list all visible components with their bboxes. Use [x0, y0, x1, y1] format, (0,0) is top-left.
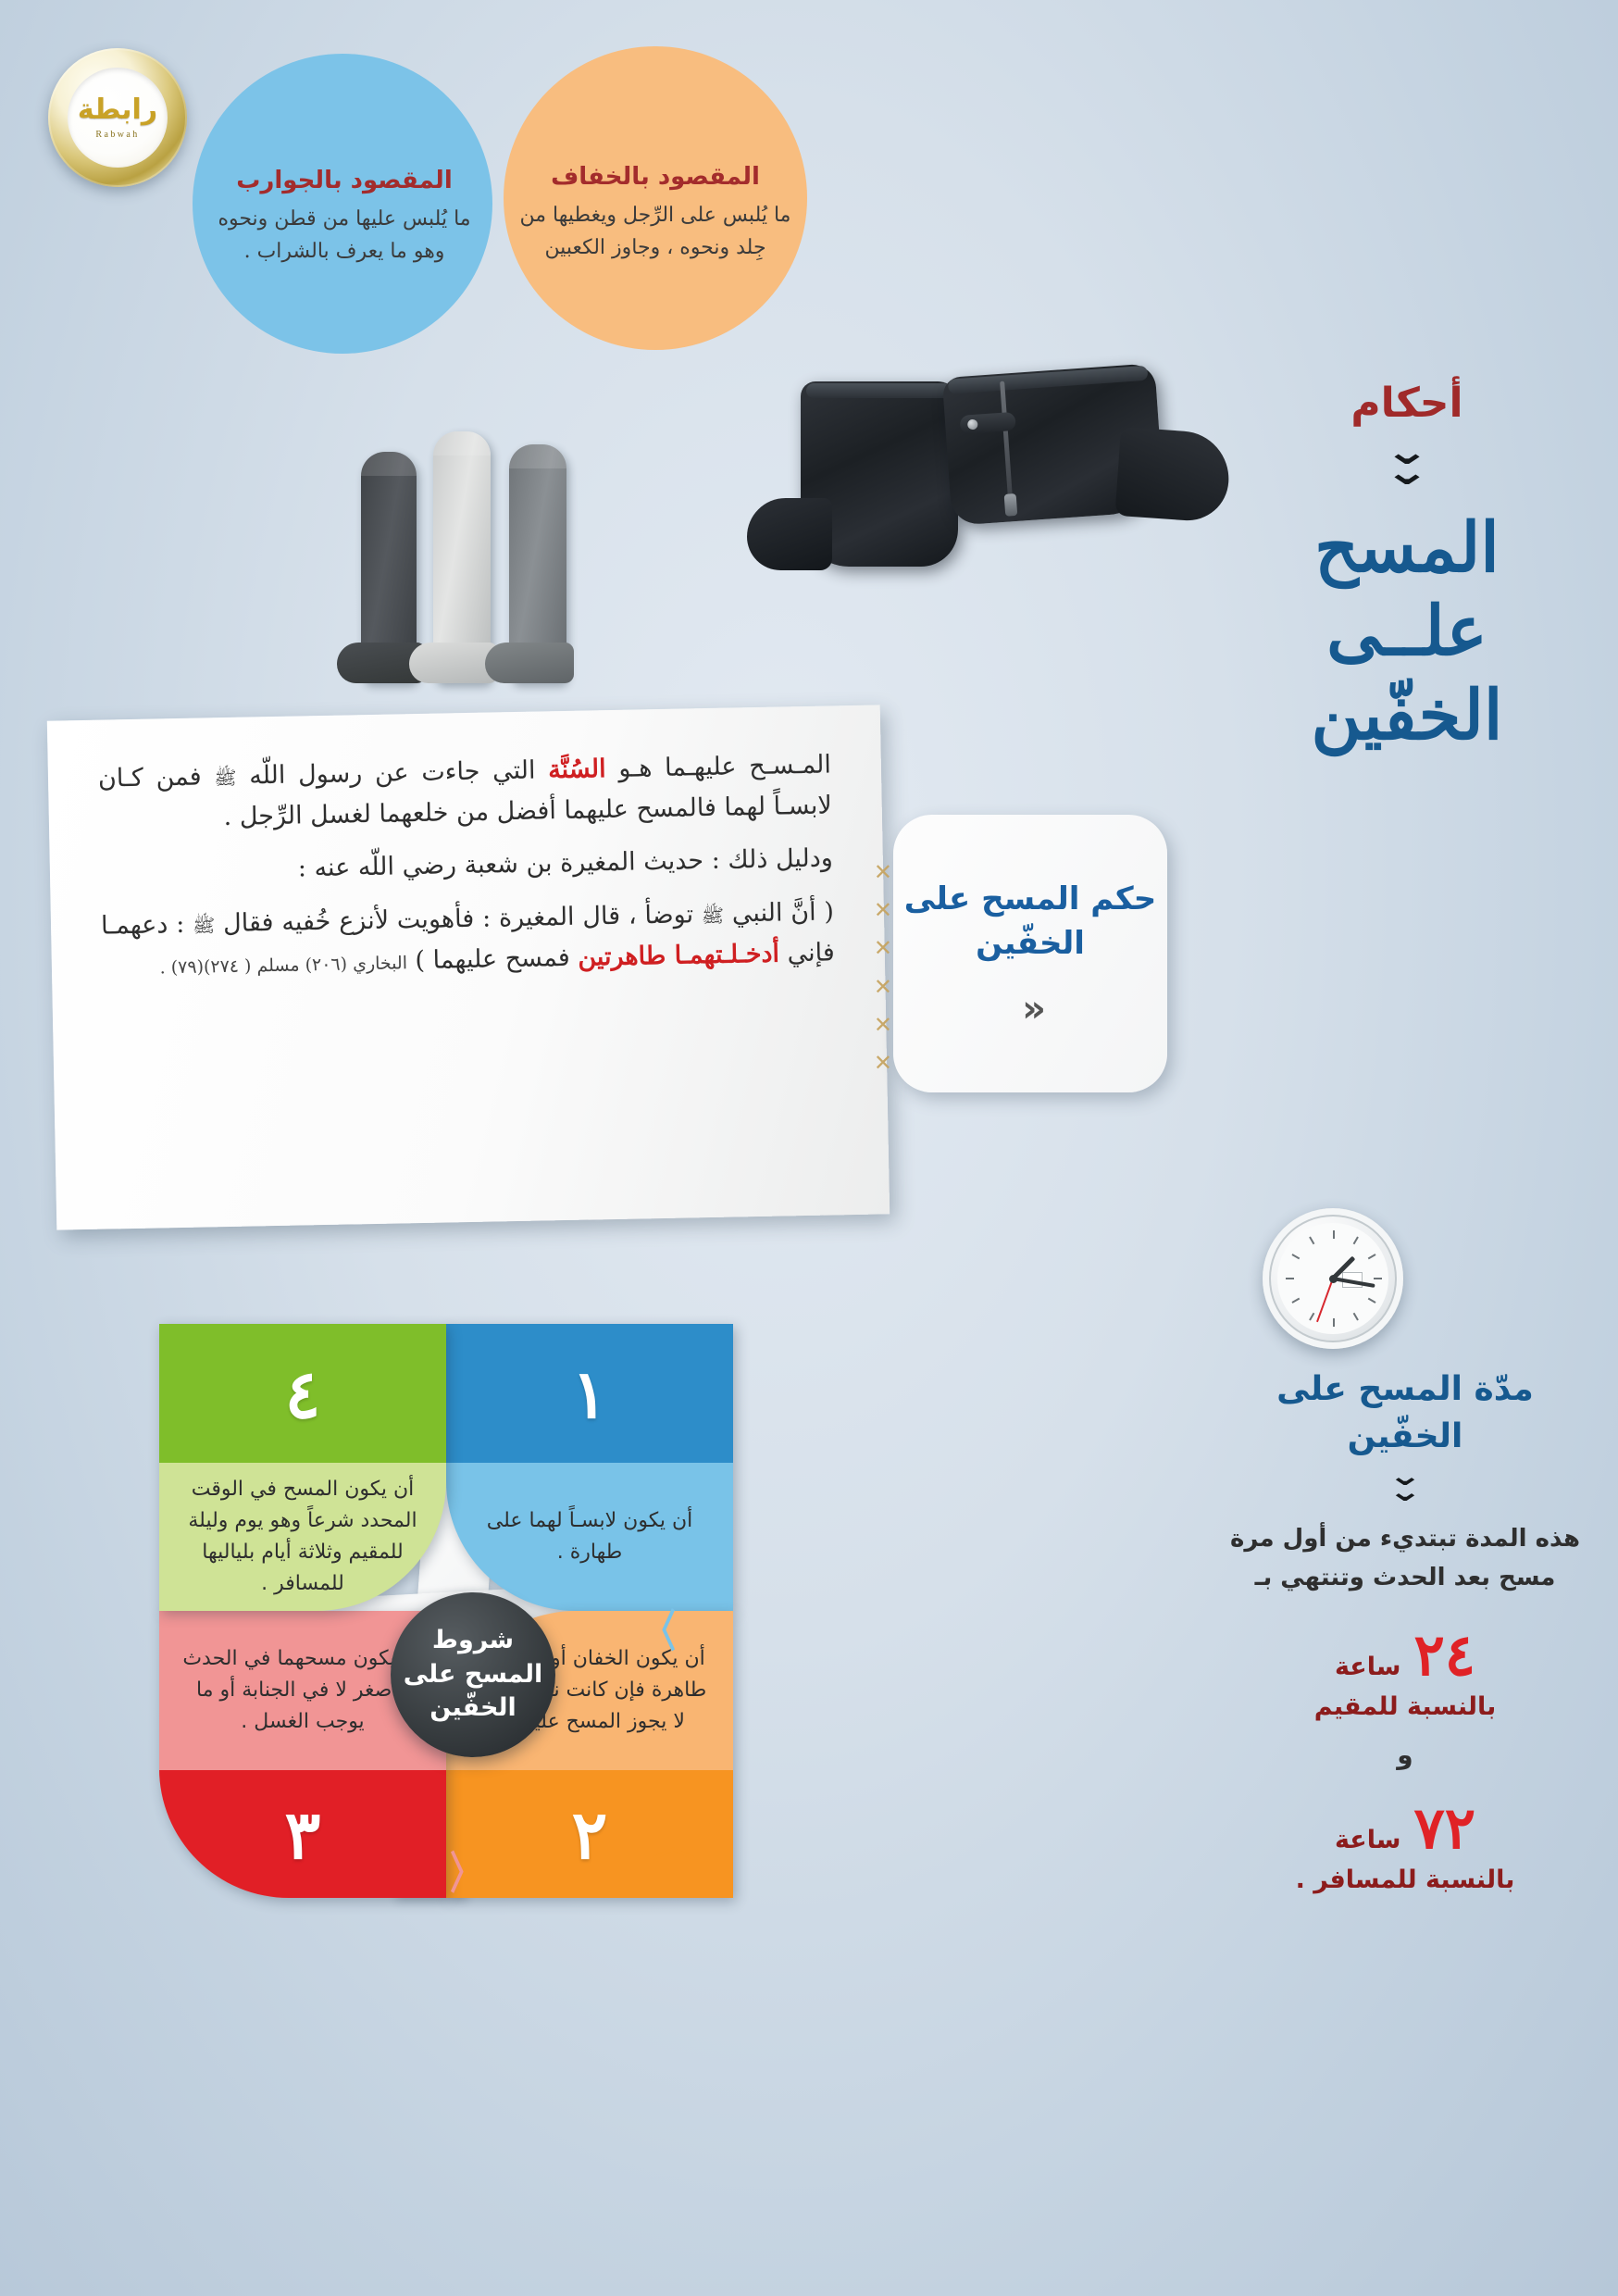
traveler-hours-number: ٧٢: [1413, 1794, 1475, 1862]
leather-socks-photo: [791, 354, 1236, 650]
sock-dark: [361, 452, 417, 683]
hadith-p3-d: فمسح عليهما ): [407, 943, 579, 976]
khuff-left: [801, 381, 958, 567]
duration-paragraph: هذه المدة تبتديء من أول مرة مسح بعد الحد…: [1229, 1520, 1581, 1597]
logo-inner-disc: رابطة Rabwah: [68, 68, 168, 168]
resident-hours-number: ٢٤: [1413, 1621, 1475, 1689]
traveler-hours-unit: ساعة: [1335, 1826, 1401, 1854]
hadith-key-phrase: أدخـلـتهمـا طاهرتين: [578, 939, 779, 971]
double-chevron-left-icon: «: [1022, 988, 1039, 1030]
hadith-p1-a: المـسـح عليهـما هـو: [605, 750, 831, 783]
khuffain-definition-body: ما يُلبس على الرِّجل ويغطيها من جِلد ونح…: [507, 200, 803, 265]
conditions-hub: شروط المسح على الخفّين: [391, 1592, 555, 1757]
hadith-para-2: ودليل ذلك : حديث المغيرة بن شعبة رضي الل…: [100, 839, 834, 893]
resident-label: بالنسبة للمقيم: [1229, 1692, 1581, 1721]
condition-1-text: أن يكون لابسـاً لهما على طهارة .: [446, 1494, 733, 1579]
chevron-left-icon: 〉: [450, 1847, 481, 1891]
wall-clock-icon: [1263, 1208, 1403, 1349]
conditions-pinwheel: ١ أن يكون لابسـاً لهما على طهارة . أن يك…: [120, 1315, 768, 1963]
hadith-p3-a: ( أنَّ النبي: [724, 898, 834, 929]
logo-wordmark: Rabwah: [95, 130, 139, 140]
socks-photo: [361, 350, 685, 683]
rabwah-logo: رابطة Rabwah: [48, 48, 187, 187]
x-braid-divider-icon: ✕✕✕✕✕✕: [861, 861, 892, 1074]
chevron-down-icon: 〉: [649, 1829, 693, 1861]
infographic-canvas: رابطة Rabwah المقصود بالجوارب ما يُلبس ع…: [0, 0, 1618, 2296]
sock-light: [433, 431, 491, 683]
condition-1-number-band: ١: [446, 1324, 733, 1463]
double-chevron-down-icon-2: ⌄⌄: [1229, 1469, 1581, 1500]
page-title: أحكام ⌄⌄ المسح علــى الخفّين: [1240, 380, 1574, 757]
sock-grey: [509, 444, 566, 683]
hadith-card: المـسـح عليهـما هـو السُنَّة التي جاءت ع…: [47, 705, 890, 1229]
condition-4-body: أن يكون المسح في الوقت المحدد شرعاً وهو …: [159, 1463, 446, 1611]
salla-allahu-icon-2: ﷺ: [702, 905, 725, 927]
rabwah-seal-icon: رابطة: [78, 96, 157, 124]
socks-definition-text: المقصود بالجوارب ما يُلبس عليها من قطن و…: [205, 167, 483, 268]
duration-resident-row: ٢٤ ساعة: [1229, 1621, 1581, 1689]
khuffain-definition-text: المقصود بالخفاف ما يُلبس على الرِّجل ويغ…: [507, 163, 803, 265]
hadith-para-3: ( أنَّ النبي ﷺ توضأ ، قال المغيرة : فأهو…: [101, 892, 836, 988]
duration-section: مدّة المسح على الخفّين ⌄⌄ هذه المدة تبتد…: [1229, 1366, 1581, 1894]
hadith-p3-b: توضأ ، قال المغيرة : فأهويت لأنزع خُفيه …: [215, 900, 702, 938]
condition-4-number-band: ٤: [159, 1324, 446, 1463]
socks-definition-heading: المقصود بالجوارب: [205, 167, 483, 194]
condition-3-number-band: ٣: [159, 1770, 446, 1898]
hadith-source: البخاري (٢٠٦) مسلم ( ٢٧٤)(٧٩) .: [159, 953, 407, 978]
resident-hours-unit: ساعة: [1335, 1653, 1401, 1681]
condition-1-number: ١: [572, 1354, 608, 1433]
condition-pane-4[interactable]: ٤ أن يكون المسح في الوقت المحدد شرعاً وه…: [159, 1324, 446, 1611]
title-superline: أحكام: [1240, 380, 1574, 427]
ruling-title: حكم المسح على الخفّين: [893, 877, 1167, 967]
ruling-callout-box: حكم المسح على الخفّين «: [893, 815, 1167, 1092]
condition-1-body: أن يكون لابسـاً لهما على طهارة .: [446, 1463, 733, 1611]
chevron-right-icon: 〉: [644, 1610, 676, 1654]
clock-face: [1277, 1223, 1388, 1334]
salla-allahu-icon-3: ﷺ: [193, 914, 216, 936]
title-main: المسح علــى الخفّين: [1240, 506, 1574, 757]
condition-pane-1[interactable]: ١ أن يكون لابسـاً لهما على طهارة .: [446, 1324, 733, 1611]
condition-4-text: أن يكون المسح في الوقت المحدد شرعاً وهو …: [159, 1463, 446, 1611]
khuff-right: [942, 363, 1165, 526]
khuffain-definition-heading: المقصود بالخفاف: [507, 163, 803, 191]
condition-2-number: ٢: [572, 1795, 608, 1874]
conditions-hub-title: شروط المسح على الخفّين: [391, 1624, 555, 1725]
duration-conjunction: و: [1229, 1740, 1581, 1770]
salla-allahu-icon: ﷺ: [214, 767, 237, 789]
condition-4-number: ٤: [285, 1354, 321, 1433]
socks-definition-body: ما يُلبس عليها من قطن ونحوه وهو ما يعرف …: [205, 204, 483, 268]
double-chevron-down-icon: ⌄⌄: [1240, 442, 1574, 482]
traveler-label: بالنسبة للمسافر .: [1229, 1865, 1581, 1894]
hadith-p1-b: التي جاءت عن رسول اللّه: [236, 755, 548, 790]
duration-traveler-row: ٧٢ ساعة: [1229, 1794, 1581, 1862]
condition-3-number: ٣: [285, 1795, 321, 1874]
sunnah-highlight: السُنَّة: [548, 755, 606, 784]
duration-heading: مدّة المسح على الخفّين: [1229, 1366, 1581, 1460]
hadith-para-1: المـسـح عليهـما هـو السُنَّة التي جاءت ع…: [98, 744, 833, 840]
